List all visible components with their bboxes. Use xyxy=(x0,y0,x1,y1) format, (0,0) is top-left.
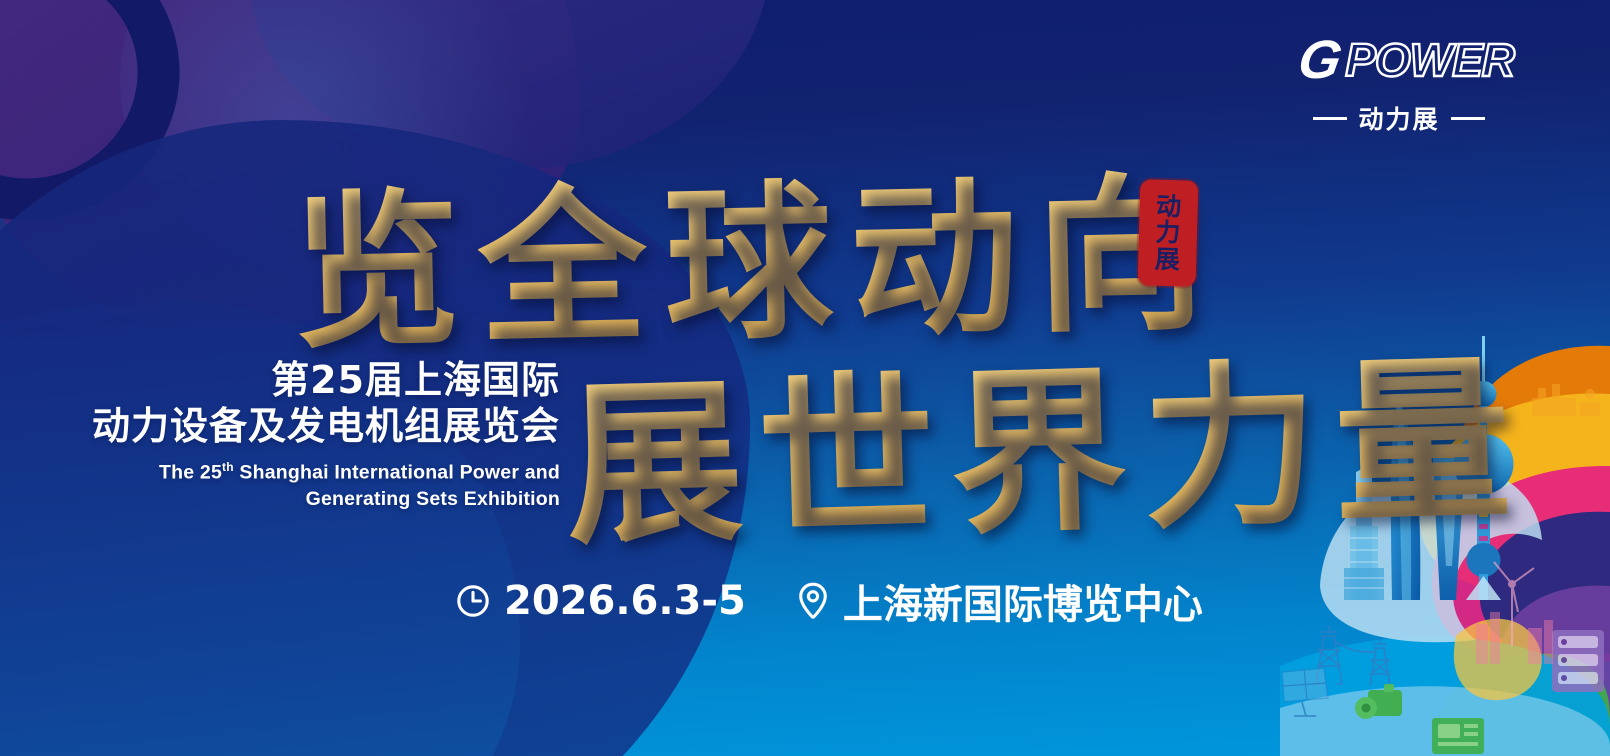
title-en-line-1: Shanghai International Power and xyxy=(234,462,560,484)
callig-char: 动 xyxy=(847,122,1038,369)
title-en: The 25th Shanghai International Power an… xyxy=(0,459,560,512)
dash-right-icon xyxy=(1451,117,1485,120)
title-en-prefix: The 25 xyxy=(159,462,222,484)
jin-mao-tower-icon xyxy=(1344,468,1384,600)
event-date-item: 2026.6.3-5 xyxy=(455,578,746,624)
title-en-line-2: Generating Sets Exhibition xyxy=(306,488,560,510)
logo-subtitle: 动力展 xyxy=(1358,100,1439,136)
seal-char: 展 xyxy=(1154,246,1180,272)
exhibition-banner: G POWER 动力展 览 全 球 动 向 展 世 界 力 量 动 力 展 xyxy=(0,0,1610,756)
event-venue-item: 上海新国际博览中心 xyxy=(796,572,1203,630)
server-rack-icon xyxy=(1552,630,1604,692)
gpower-logo: G POWER 动力展 xyxy=(1284,32,1514,136)
callig-char: 界 xyxy=(947,307,1146,567)
logo-g-mark: G xyxy=(1294,33,1344,87)
shanghai-skyline-energy-illustration xyxy=(1280,336,1610,756)
seal-char: 动 xyxy=(1156,193,1182,219)
control-panel-icon xyxy=(1432,718,1484,754)
logo-wordmark-row: G POWER xyxy=(1284,32,1514,88)
event-meta-row: 2026.6.3-5 上海新国际博览中心 xyxy=(455,572,1203,630)
event-venue: 上海新国际博览中心 xyxy=(843,572,1203,630)
dash-left-icon xyxy=(1313,117,1347,120)
callig-char: 世 xyxy=(755,313,954,573)
clock-icon xyxy=(455,583,491,619)
logo-wordmark: POWER xyxy=(1345,37,1514,83)
event-date: 2026.6.3-5 xyxy=(504,578,746,624)
location-pin-icon xyxy=(796,581,830,621)
title-en-ordinal: th xyxy=(222,460,234,474)
red-seal-stamp: 动 力 展 xyxy=(1138,179,1199,286)
logo-subtitle-row: 动力展 xyxy=(1284,100,1514,136)
exhibition-title-block: 第25届上海国际 动力设备及发电机组展览会 The 25th Shanghai … xyxy=(0,358,560,512)
title-cn-line-2: 动力设备及发电机组展览会 xyxy=(0,404,560,450)
shanghai-tower-icon xyxy=(1391,398,1420,600)
seal-char: 力 xyxy=(1155,220,1181,246)
title-cn-line-1: 第25届上海国际 xyxy=(0,358,560,404)
